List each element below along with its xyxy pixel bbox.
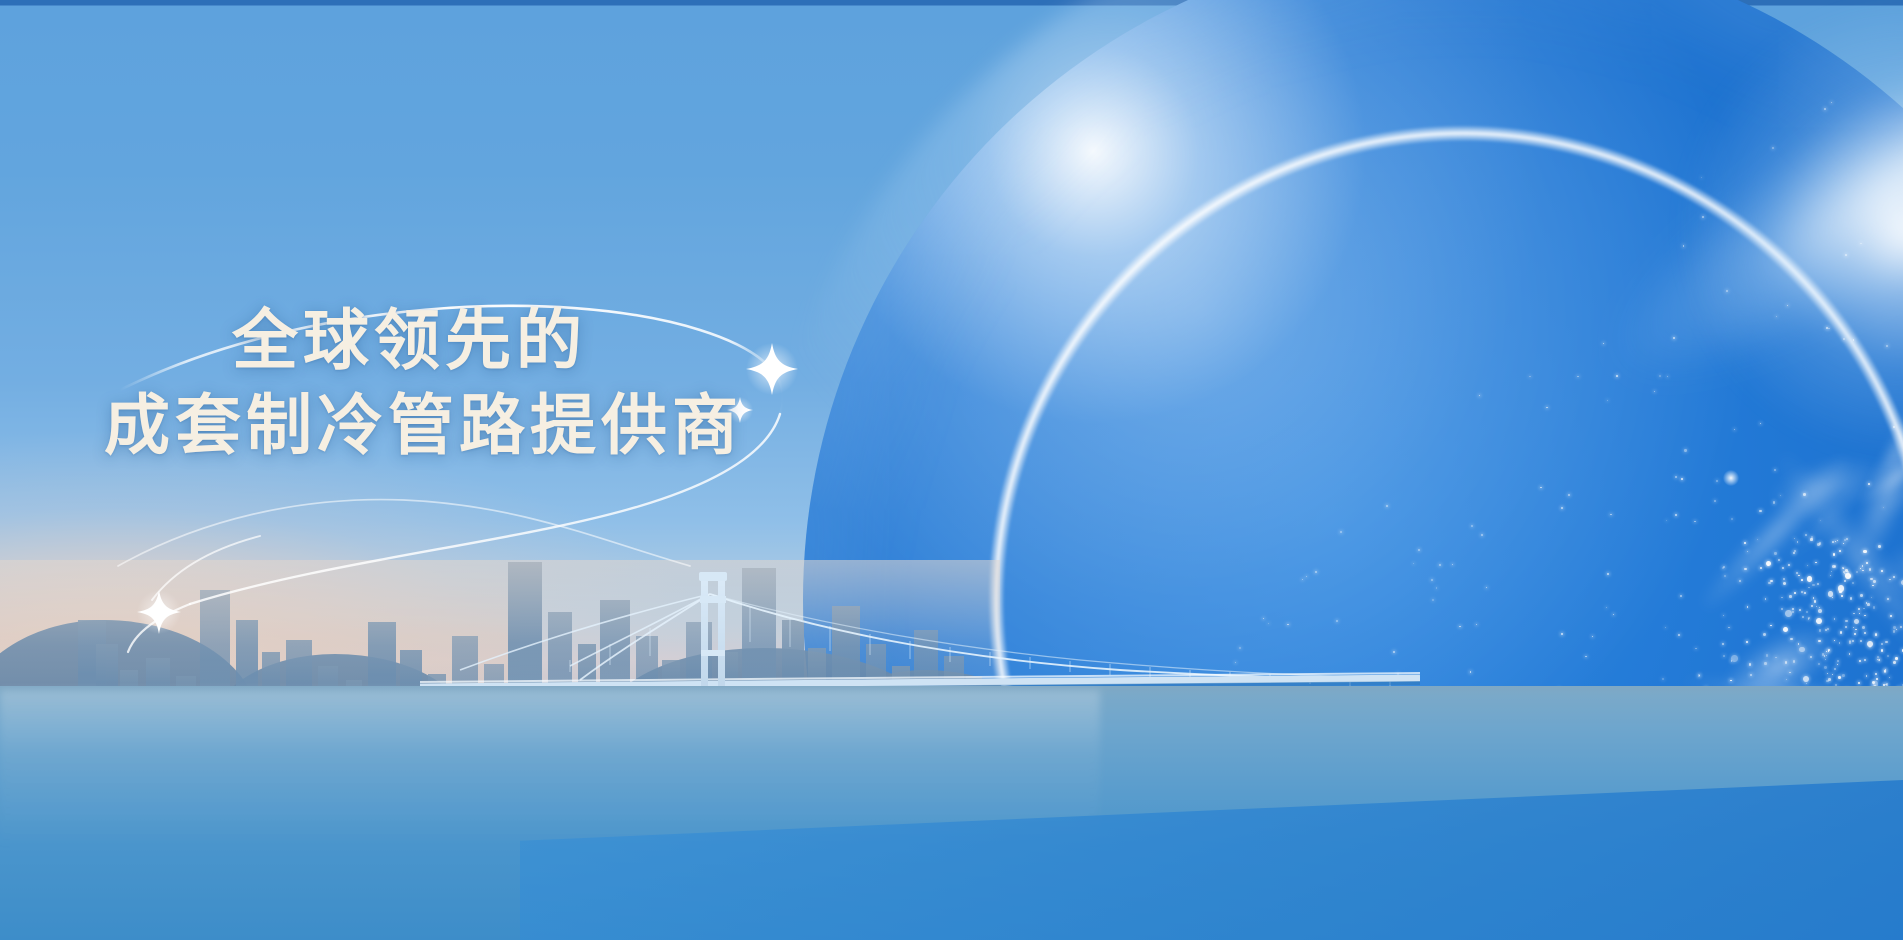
- headline-line-1: 全球领先的: [232, 305, 824, 376]
- headline: 全球领先的 成套制冷管路提供商: [104, 305, 824, 462]
- hero-banner: 全球领先的 成套制冷管路提供商: [0, 0, 1903, 940]
- headline-line-2: 成套制冷管路提供商: [104, 390, 824, 461]
